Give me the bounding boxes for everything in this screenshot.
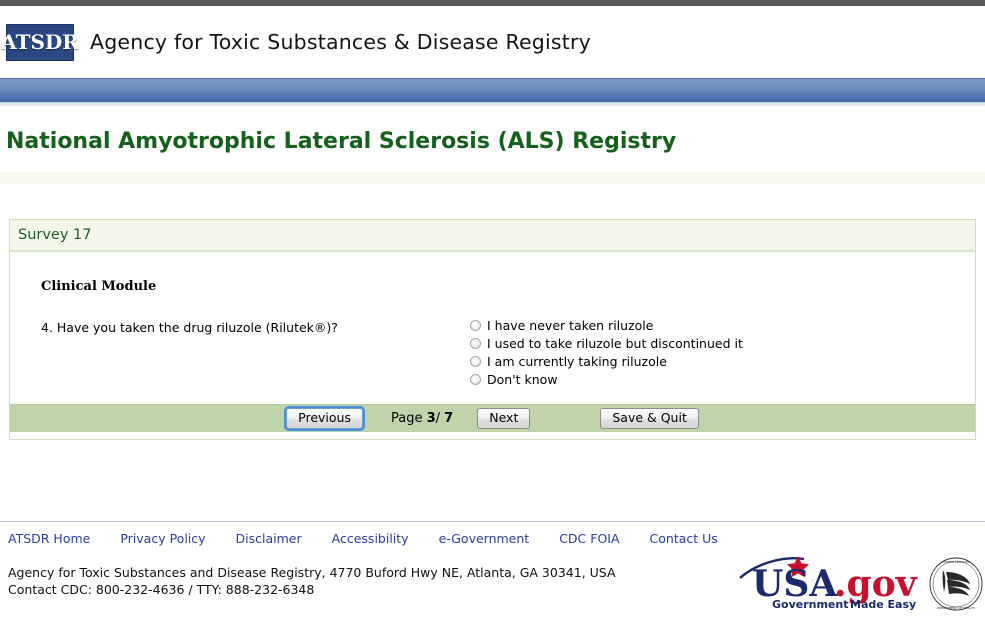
option-currently-taking[interactable]: I am currently taking riluzole <box>470 354 743 369</box>
survey-panel: Survey 17 Clinical Module 4. Have you ta… <box>9 219 976 440</box>
radio-icon[interactable] <box>470 374 481 385</box>
survey-panel-header: Survey 17 <box>10 220 975 252</box>
question-row: 4. Have you taken the drug riluzole (Ril… <box>10 318 975 387</box>
navigation-controls: Previous Page 3/ 7 Next Save & Quit <box>286 408 699 429</box>
save-and-quit-button[interactable]: Save & Quit <box>600 408 699 429</box>
footer-link-disclaimer[interactable]: Disclaimer <box>236 531 302 546</box>
title-divider-strip <box>0 172 985 184</box>
hhs-seal-svg: HUMAN SERVICES DEPARTMENT OF HEALTH <box>928 556 984 612</box>
radio-icon[interactable] <box>470 356 481 367</box>
blue-banner-bar <box>0 78 985 102</box>
masthead: ATSDR Agency for Toxic Substances & Dise… <box>0 6 985 78</box>
footer-address-line-2: Contact CDC: 800-232-4636 / TTY: 888-232… <box>8 581 616 598</box>
atsdr-logo-icon[interactable]: ATSDR <box>6 24 74 61</box>
option-label: I used to take riluzole but discontinued… <box>487 336 743 351</box>
page-title-area: National Amyotrophic Lateral Sclerosis (… <box>0 110 985 172</box>
page-total: 7 <box>444 411 453 426</box>
radio-icon[interactable] <box>470 338 481 349</box>
option-label: I am currently taking riluzole <box>487 354 667 369</box>
previous-button[interactable]: Previous <box>286 408 363 429</box>
svg-text:HUMAN SERVICES: HUMAN SERVICES <box>943 560 970 564</box>
footer-address-line-1: Agency for Toxic Substances and Disease … <box>8 564 616 581</box>
hhs-department-seal-icon: HUMAN SERVICES DEPARTMENT OF HEALTH <box>928 556 984 612</box>
svg-text:DEPARTMENT OF HEALTH: DEPARTMENT OF HEALTH <box>937 606 975 610</box>
page-current: 3 <box>427 411 436 426</box>
next-button[interactable]: Next <box>477 408 530 429</box>
banner-shadow <box>0 102 985 108</box>
svg-text:Made Easy: Made Easy <box>850 598 916 611</box>
page-title: National Amyotrophic Lateral Sclerosis (… <box>6 129 676 154</box>
option-label: I have never taken riluzole <box>487 318 653 333</box>
svg-text:Government: Government <box>772 598 848 611</box>
footer-links: ATSDR Home Privacy Policy Disclaimer Acc… <box>0 528 985 548</box>
option-dont-know[interactable]: Don't know <box>470 372 743 387</box>
survey-title: Survey 17 <box>18 227 92 243</box>
radio-icon[interactable] <box>470 320 481 331</box>
survey-panel-body: Clinical Module 4. Have you taken the dr… <box>10 252 975 439</box>
agency-name: Agency for Toxic Substances & Disease Re… <box>90 30 591 54</box>
footer-link-accessibility[interactable]: Accessibility <box>332 531 409 546</box>
module-label: Clinical Module <box>41 279 975 294</box>
option-discontinued[interactable]: I used to take riluzole but discontinued… <box>470 336 743 351</box>
survey-navigation-bar: Previous Page 3/ 7 Next Save & Quit <box>10 404 975 432</box>
footer-divider <box>0 521 985 522</box>
footer-link-atsdr-home[interactable]: ATSDR Home <box>8 531 90 546</box>
usagov-logo[interactable]: USA .gov Government Made Easy <box>738 556 923 612</box>
atsdr-logo-text: ATSDR <box>1 32 79 52</box>
page-indicator: Page 3/ 7 <box>391 411 453 426</box>
page-separator: / <box>436 411 440 426</box>
footer-link-contact-us[interactable]: Contact Us <box>650 531 718 546</box>
footer-link-e-government[interactable]: e-Government <box>439 531 530 546</box>
question-text: 4. Have you taken the drug riluzole (Ril… <box>41 318 461 336</box>
footer-link-cdc-foia[interactable]: CDC FOIA <box>559 531 619 546</box>
footer-link-privacy-policy[interactable]: Privacy Policy <box>120 531 205 546</box>
page-prefix: Page <box>391 411 422 426</box>
option-label: Don't know <box>487 372 558 387</box>
answer-options-group: I have never taken riluzole I used to ta… <box>470 318 743 387</box>
option-never-taken[interactable]: I have never taken riluzole <box>470 318 743 333</box>
footer-address: Agency for Toxic Substances and Disease … <box>8 564 616 598</box>
usagov-logo-svg: USA .gov Government Made Easy <box>738 556 923 612</box>
